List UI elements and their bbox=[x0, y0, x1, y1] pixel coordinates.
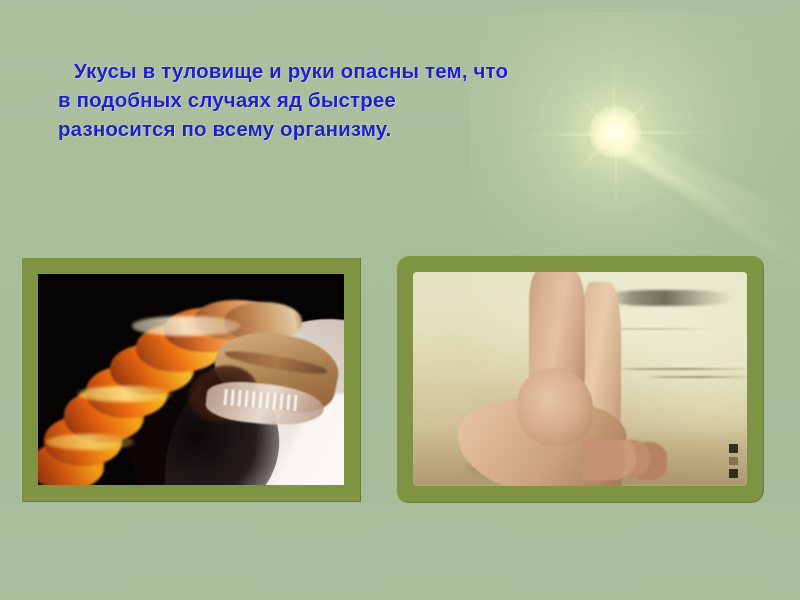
feet-photo-frame bbox=[396, 255, 764, 503]
distant-rocks bbox=[603, 290, 733, 306]
heading-line-1: Укусы в туловище и руки опасны тем, что bbox=[58, 57, 758, 86]
snake-saddle bbox=[78, 386, 172, 402]
snake-saddle bbox=[46, 434, 134, 450]
snake-artwork bbox=[38, 274, 344, 485]
ankle bbox=[517, 368, 593, 446]
heading-line-3: разносится по всему организму. bbox=[58, 115, 758, 144]
heading-line-2: в подобных случаях яд быстрее bbox=[58, 86, 758, 115]
waterline bbox=[613, 368, 747, 370]
flare-ray-s bbox=[615, 133, 617, 229]
watermark-stamp bbox=[729, 444, 738, 478]
watermark-block bbox=[729, 457, 738, 465]
rear-toes bbox=[583, 440, 667, 480]
slide-canvas: Укусы в туловище и руки опасны тем, что … bbox=[0, 0, 800, 600]
bare-feet-sand-photo bbox=[413, 272, 747, 486]
snake-saddle bbox=[132, 316, 240, 336]
watermark-block bbox=[729, 444, 738, 453]
waterline bbox=[645, 376, 747, 378]
snake-photo-frame bbox=[21, 257, 361, 502]
beach-artwork bbox=[413, 272, 747, 486]
watermark-block bbox=[729, 469, 738, 478]
page-title: Укусы в туловище и руки опасны тем, что … bbox=[58, 57, 758, 144]
snake-bite-photo bbox=[38, 274, 344, 485]
